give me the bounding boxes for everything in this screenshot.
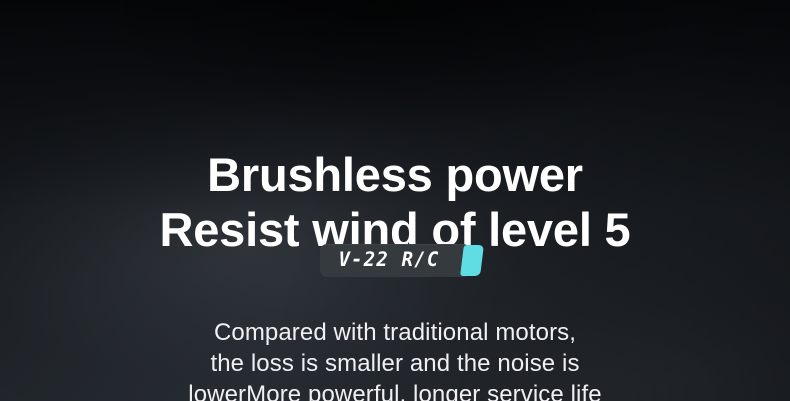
model-badge-label: V-22 R/C — [338, 243, 439, 277]
product-hero-banner: Brushless power Resist wind of level 5 V… — [0, 0, 790, 401]
badge-accent-block-icon — [460, 245, 484, 276]
banner-content: Brushless power Resist wind of level 5 V… — [0, 0, 790, 401]
hero-description-line-2: the loss is smaller and the noise is — [0, 348, 790, 379]
hero-headline-line-1: Brushless power — [0, 147, 790, 202]
hero-description-line-1: Compared with traditional motors, — [0, 317, 790, 348]
model-badge-container: V-22 R/C — [0, 244, 790, 278]
hero-description-line-3: lowerMore powerful, longer service life — [0, 379, 790, 401]
model-badge: V-22 R/C — [320, 244, 469, 277]
hero-description: Compared with traditional motors, the lo… — [0, 317, 790, 401]
hero-headline: Brushless power Resist wind of level 5 — [0, 147, 790, 257]
